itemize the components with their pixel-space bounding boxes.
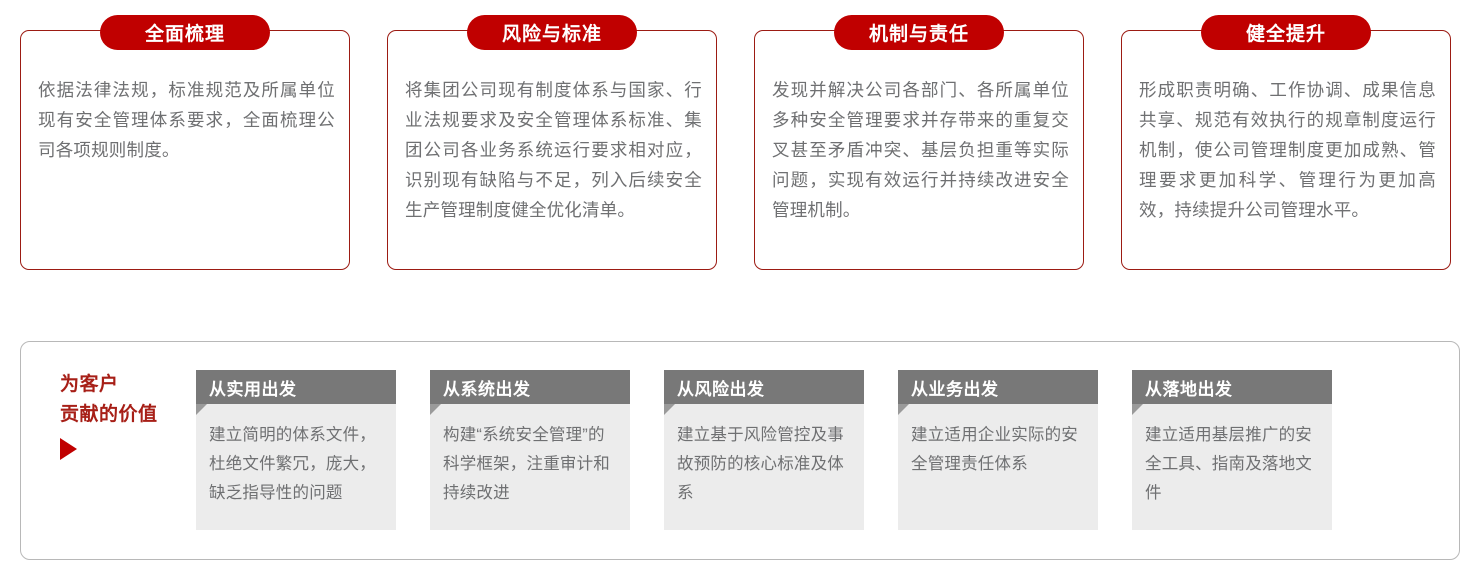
objective-card: 风险与标准 将集团公司现有制度体系与国家、行业法规要求及安全管理体系标准、集团公… xyxy=(387,30,717,270)
objective-description: 发现并解决公司各部门、各所属单位多种安全管理要求并存带来的重复交叉甚至矛盾冲突、… xyxy=(772,75,1069,225)
value-card: 从落地出发 建立适用基层推广的安全工具、指南及落地文件 xyxy=(1132,370,1332,530)
objective-description: 形成职责明确、工作协调、成果信息共享、规范有效执行的规章制度运行机制，使公司管理… xyxy=(1139,75,1436,225)
fold-corner-icon xyxy=(430,404,441,415)
value-card-header: 从风险出发 xyxy=(664,370,864,404)
value-card: 从系统出发 构建“系统安全管理”的科学框架，注重审计和持续改进 xyxy=(430,370,630,530)
fold-corner-icon xyxy=(1132,404,1143,415)
customer-value-label-line1: 为客户 xyxy=(60,370,200,400)
objective-description: 将集团公司现有制度体系与国家、行业法规要求及安全管理体系标准、集团公司各业务系统… xyxy=(405,75,702,225)
fold-corner-icon xyxy=(898,404,909,415)
objective-card: 健全提升 形成职责明确、工作协调、成果信息共享、规范有效执行的规章制度运行机制，… xyxy=(1121,30,1451,270)
customer-value-label-line2: 贡献的价值 xyxy=(60,400,200,430)
objective-badge: 风险与标准 xyxy=(467,15,637,50)
objective-badge: 健全提升 xyxy=(1201,15,1371,50)
value-card: 从业务出发 建立适用企业实际的安全管理责任体系 xyxy=(898,370,1098,530)
fold-corner-icon xyxy=(664,404,675,415)
value-card-body: 建立适用企业实际的安全管理责任体系 xyxy=(898,404,1098,479)
value-card: 从风险出发 建立基于风险管控及事故预防的核心标准及体系 xyxy=(664,370,864,530)
value-card-body: 建立简明的体系文件，杜绝文件繁冗，庞大，缺乏指导性的问题 xyxy=(196,404,396,508)
value-card-header: 从业务出发 xyxy=(898,370,1098,404)
value-card-header: 从系统出发 xyxy=(430,370,630,404)
value-card-body: 建立适用基层推广的安全工具、指南及落地文件 xyxy=(1132,404,1332,508)
value-card: 从实用出发 建立简明的体系文件，杜绝文件繁冗，庞大，缺乏指导性的问题 xyxy=(196,370,396,530)
customer-value-label: 为客户 贡献的价值 xyxy=(60,370,200,460)
triangle-right-icon xyxy=(60,438,77,460)
objective-badge: 全面梳理 xyxy=(100,15,270,50)
value-cards-row: 从实用出发 建立简明的体系文件，杜绝文件繁冗，庞大，缺乏指导性的问题 从系统出发… xyxy=(196,370,1332,530)
value-card-header: 从实用出发 xyxy=(196,370,396,404)
value-card-header: 从落地出发 xyxy=(1132,370,1332,404)
value-card-body: 建立基于风险管控及事故预防的核心标准及体系 xyxy=(664,404,864,508)
customer-value-panel: 为客户 贡献的价值 从实用出发 建立简明的体系文件，杜绝文件繁冗，庞大，缺乏指导… xyxy=(20,341,1460,560)
objective-description: 依据法律法规，标准规范及所属单位现有安全管理体系要求，全面梳理公司各项规则制度。 xyxy=(38,75,335,165)
objectives-row: 全面梳理 依据法律法规，标准规范及所属单位现有安全管理体系要求，全面梳理公司各项… xyxy=(20,30,1460,270)
value-card-body: 构建“系统安全管理”的科学框架，注重审计和持续改进 xyxy=(430,404,630,508)
objective-badge: 机制与责任 xyxy=(834,15,1004,50)
objective-card: 机制与责任 发现并解决公司各部门、各所属单位多种安全管理要求并存带来的重复交叉甚… xyxy=(754,30,1084,270)
fold-corner-icon xyxy=(196,404,207,415)
objective-card: 全面梳理 依据法律法规，标准规范及所属单位现有安全管理体系要求，全面梳理公司各项… xyxy=(20,30,350,270)
